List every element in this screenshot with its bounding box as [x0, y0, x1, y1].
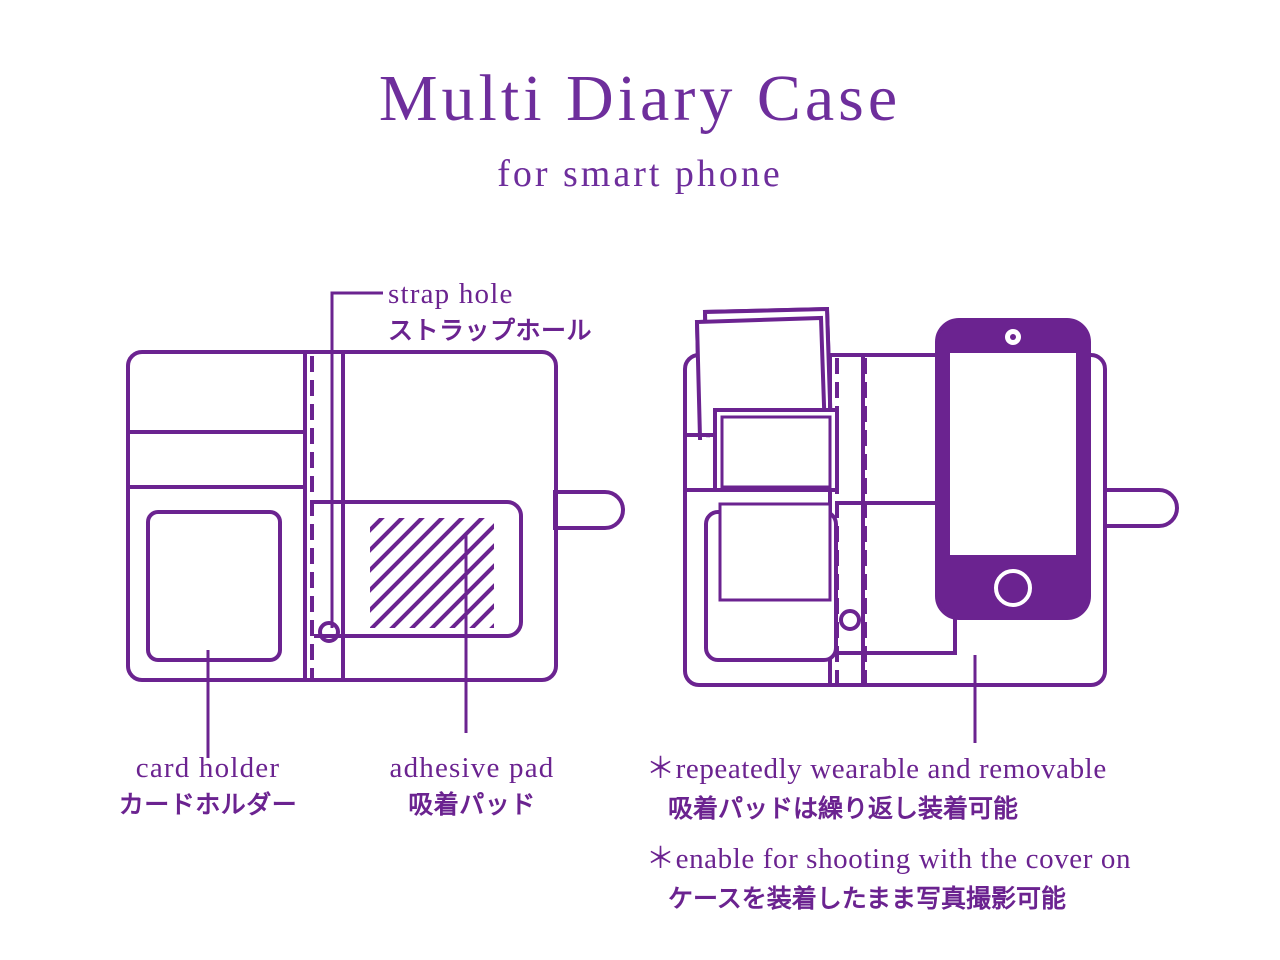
adhesive-pad-leader [461, 535, 471, 735]
closure-band [1105, 490, 1177, 526]
right-case-diagram [675, 300, 1205, 720]
page-title-block: Multi Diary Case for smart phone [0, 62, 1280, 198]
card-pocket [148, 512, 280, 660]
card-in-pocket [720, 504, 830, 600]
phone-leader [970, 655, 980, 745]
page-title: Multi Diary Case [0, 62, 1280, 136]
note-2-jp: ケースを装着したまま写真撮影可能 [646, 879, 1131, 919]
label-strap-hole: strap hole ストラップホール [388, 276, 592, 349]
note-repeatedly-wearable: ＊repeatedly wearable and removable 吸着パッド… [646, 750, 1107, 829]
label-strap-hole-en: strap hole [388, 276, 592, 313]
page-subtitle: for smart phone [0, 150, 1280, 198]
note-2-en: ＊enable for shooting with the cover on [646, 840, 1131, 879]
label-card-holder: card holder カードホルダー [118, 750, 298, 823]
label-adhesive-pad: adhesive pad 吸着パッド [372, 750, 572, 823]
phone-camera-lens [1010, 334, 1016, 340]
seated-card-inner [722, 417, 830, 487]
note-shooting-with-cover: ＊enable for shooting with the cover on ケ… [646, 840, 1131, 919]
label-card-holder-en: card holder [118, 750, 298, 787]
leader-line-strap-hole [332, 293, 383, 628]
phone-screen [950, 353, 1076, 555]
illustration-page: Multi Diary Case for smart phone [0, 0, 1280, 960]
smartphone [937, 320, 1089, 618]
label-card-holder-jp: カードホルダー [118, 787, 298, 823]
label-adhesive-pad-en: adhesive pad [372, 750, 572, 787]
note-1-en: ＊repeatedly wearable and removable [646, 750, 1107, 789]
card-holder-leader [203, 650, 213, 760]
label-strap-hole-jp: ストラップホール [388, 313, 592, 349]
label-adhesive-pad-jp: 吸着パッド [372, 787, 572, 823]
note-1-jp: 吸着パッドは繰り返し装着可能 [646, 789, 1107, 829]
